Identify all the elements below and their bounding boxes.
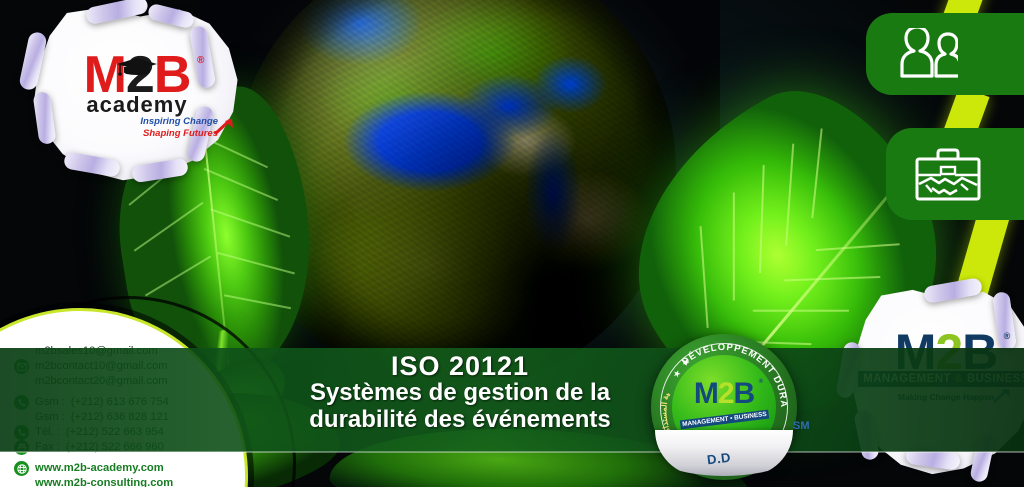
title-line2: Systèmes de gestion de la xyxy=(250,380,670,407)
card-business[interactable] xyxy=(886,128,1024,220)
registered-mark: ® xyxy=(1004,332,1010,340)
list-item[interactable]: www.m2b-consulting.com xyxy=(14,476,224,487)
banner-underline xyxy=(0,451,1024,453)
spacer xyxy=(14,476,29,487)
seal-b: B xyxy=(734,377,755,410)
globe-icon xyxy=(14,461,29,476)
seal-wordmark: M2B ® xyxy=(694,380,754,407)
academy-logo-text: M2B ® academy Inspiring Change Shaping F… xyxy=(44,52,230,140)
briefcase-handshake-icon xyxy=(912,144,984,204)
registered-mark: ® xyxy=(759,380,762,385)
seal-2: 2 xyxy=(718,377,734,410)
seal-ribbon-label: D.D xyxy=(706,450,732,468)
sustainable-development-seal: DÉVELOPPEMENT DURABLE التنمية المستدامة … xyxy=(651,334,797,480)
people-icon xyxy=(892,28,958,80)
list-item[interactable]: www.m2b-academy.com xyxy=(14,461,224,476)
seal-logo: M2B ® MANAGEMENT • BUSINESS xyxy=(669,380,779,426)
website-value: www.m2b-consulting.com xyxy=(35,476,173,487)
title-iso: ISO 20121 xyxy=(250,352,670,380)
academy-tagline: Inspiring Change Shaping Futures xyxy=(44,116,218,140)
academy-tagline-line1: Inspiring Change xyxy=(140,116,218,127)
title-banner: ISO 20121 Systèmes de gestion de la dura… xyxy=(0,348,1024,452)
arrow-up-right-icon xyxy=(214,118,234,140)
registered-mark: ® xyxy=(197,56,203,65)
website-value: www.m2b-academy.com xyxy=(35,461,164,475)
title-line3: durabilité des événements xyxy=(250,407,670,434)
iso-20121-banner: M2B ® academy Inspiring Change Shaping F… xyxy=(0,0,1024,487)
academy-tagline-line2: Shaping Futures xyxy=(143,128,218,139)
seal-m: M xyxy=(694,377,718,410)
seal-side-label: SM xyxy=(793,420,810,432)
academy-wordmark: M2B ® xyxy=(84,52,191,100)
graduation-cap-icon xyxy=(114,36,160,84)
card-people[interactable] xyxy=(866,13,1024,95)
